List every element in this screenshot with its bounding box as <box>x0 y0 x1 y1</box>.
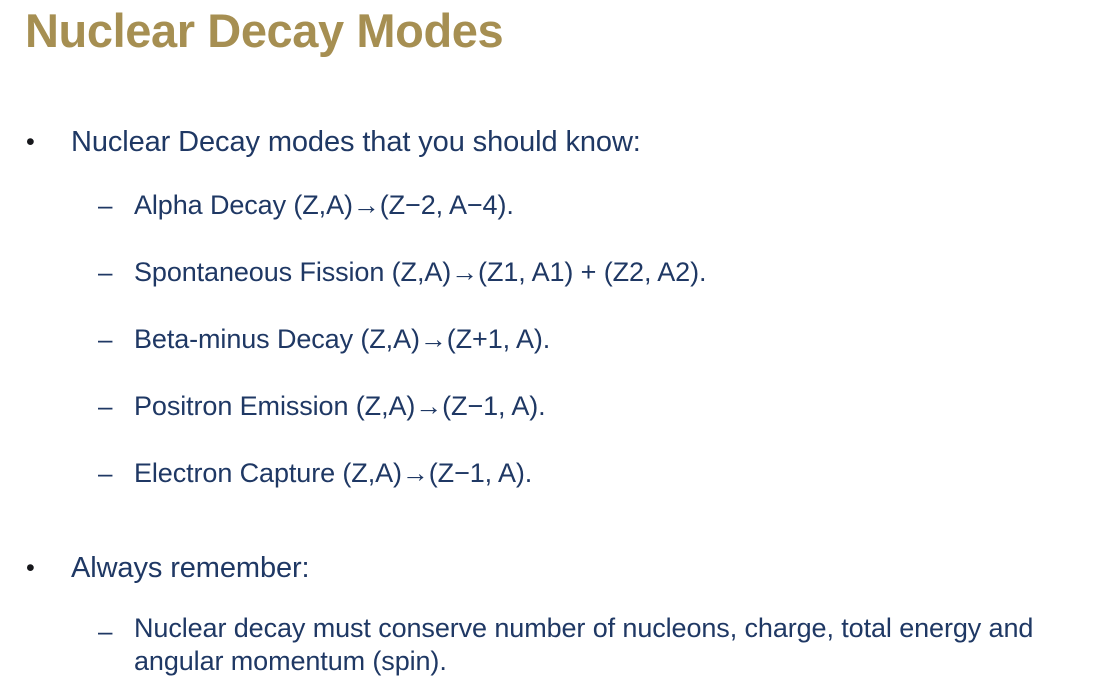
bullet-dot-icon: • <box>26 548 50 588</box>
list-item-text: Beta-minus Decay (Z,A)→(Z+1, A). <box>134 320 1118 358</box>
list-item-text: Spontaneous Fission (Z,A)→(Z1, A1) + (Z2… <box>134 253 1118 291</box>
page-title: Nuclear Decay Modes <box>25 2 503 60</box>
list-item-text: Nuclear decay must conserve number of nu… <box>134 612 1118 678</box>
dash-marker-icon: – <box>98 612 122 650</box>
list-item-level2: – Nuclear decay must conserve number of … <box>0 612 1118 678</box>
list-item-text: Nuclear Decay modes that you should know… <box>71 122 1118 162</box>
dash-marker-icon: – <box>98 186 122 224</box>
dash-marker-icon: – <box>98 387 122 425</box>
list-item-level2: – Alpha Decay (Z,A)→(Z−2, A−4). <box>0 186 1118 253</box>
dash-marker-icon: – <box>98 253 122 291</box>
slide-body-list: • Nuclear Decay modes that you should kn… <box>0 122 1118 678</box>
list-item-text: Electron Capture (Z,A)→(Z−1, A). <box>134 454 1118 492</box>
bullet-dot-icon: • <box>26 122 50 162</box>
list-item-level2: – Positron Emission (Z,A)→(Z−1, A). <box>0 387 1118 454</box>
dash-marker-icon: – <box>98 454 122 492</box>
list-item-level1: • Always remember: <box>0 548 1118 600</box>
list-item-level2: – Beta-minus Decay (Z,A)→(Z+1, A). <box>0 320 1118 387</box>
list-item-level2: – Spontaneous Fission (Z,A)→(Z1, A1) + (… <box>0 253 1118 320</box>
list-item-text: Alpha Decay (Z,A)→(Z−2, A−4). <box>134 186 1118 224</box>
list-item-level2: – Electron Capture (Z,A)→(Z−1, A). <box>0 454 1118 521</box>
list-item-text: Always remember: <box>71 548 1118 588</box>
dash-marker-icon: – <box>98 320 122 358</box>
list-item-text: Positron Emission (Z,A)→(Z−1, A). <box>134 387 1118 425</box>
slide-canvas: Nuclear Decay Modes • Nuclear Decay mode… <box>0 0 1118 663</box>
list-item-level1: • Nuclear Decay modes that you should kn… <box>0 122 1118 174</box>
